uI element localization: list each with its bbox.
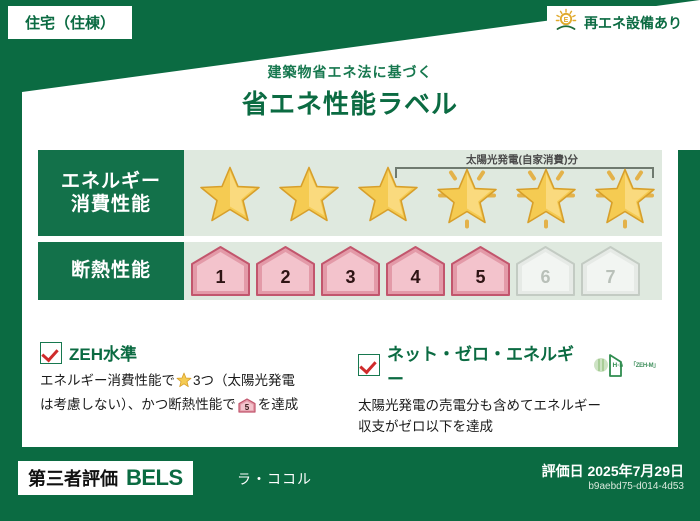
star-icon — [587, 160, 663, 235]
insulation-level-scale: 1 2 — [190, 245, 641, 297]
zeh-m-logo-caption: 「ZEH-M」 — [630, 360, 658, 371]
insulation-level-number: 5 — [450, 267, 511, 288]
third-party-label: 第三者評価 — [28, 465, 118, 491]
insulation-level-item: 7 — [580, 245, 641, 297]
star-icon — [278, 165, 340, 230]
insulation-level-number: 6 — [515, 267, 576, 288]
certificate-id: b9aebd75-d014-4d53 — [588, 481, 684, 492]
zeh-check-title: ZEH水準 — [69, 340, 137, 365]
insulation-level-item: 3 — [320, 245, 381, 297]
insulation-level-number: 4 — [385, 267, 446, 288]
insulation-level-item: 2 — [255, 245, 316, 297]
star-icon — [357, 165, 419, 230]
zeh-desc-part3: を達成 — [258, 397, 299, 412]
criteria-checks: ZEH水準 エネルギー消費性能で3つ（太陽光発電 は考慮しない）、かつ断熱性能で… — [40, 340, 660, 438]
insulation-scale-area: 1 2 — [184, 242, 662, 300]
evaluation-date: 評価日 2025年7月29日 — [542, 461, 684, 481]
svg-text:5: 5 — [245, 403, 250, 412]
star-item-solar — [585, 161, 664, 233]
star-item-solar — [506, 161, 585, 233]
insulation-level-item: 1 — [190, 245, 251, 297]
star-icon — [508, 160, 584, 235]
zeh-desc-part1: エネルギー消費性能で — [40, 373, 175, 388]
nze-check-description: 太陽光発電の売電分も含めてエネルギー 収支がゼロ以下を達成 — [358, 396, 658, 438]
zeh-desc-star-count: 3つ（太陽光発電 — [193, 373, 295, 388]
energy-label-line1: エネルギー — [61, 170, 161, 193]
zeh-check-header: ZEH水準 — [40, 340, 340, 365]
star-item — [269, 161, 348, 233]
energy-performance-label: エネルギー 消費性能 — [38, 150, 184, 236]
housing-type-tag: 住宅（住棟） — [8, 6, 132, 39]
insulation-level-item: 4 — [385, 245, 446, 297]
label-title-block: 建築物省エネ法に基づく 省エネ性能ラベル — [22, 62, 678, 121]
star-item — [190, 161, 269, 233]
insulation-level-number: 2 — [255, 267, 316, 288]
zeh-m-logo-icon: H·M — [593, 352, 623, 378]
energy-performance-row: エネルギー 消費性能 太陽光発電(自家消費)分 — [38, 150, 662, 236]
star-item — [348, 161, 427, 233]
checkmark-icon — [40, 342, 62, 364]
zeh-standard-check: ZEH水準 エネルギー消費性能で3つ（太陽光発電 は考慮しない）、かつ断熱性能で… — [40, 340, 340, 438]
checkmark-icon — [358, 354, 380, 376]
insulation-level-item: 5 — [450, 245, 511, 297]
page-title: 省エネ性能ラベル — [22, 84, 678, 121]
star-icon — [199, 165, 261, 230]
house-icon-inline: 5 — [238, 398, 256, 420]
nze-check-title: ネット・ゼロ・エネルギー — [387, 340, 584, 390]
nze-desc-line1: 太陽光発電の売電分も含めてエネルギー — [358, 398, 601, 413]
star-rating — [184, 160, 662, 234]
energy-label-root: 住宅（住棟） E 再エネ設備あり 建築物省エネ法に — [0, 0, 700, 521]
renewable-equipment-badge: E 再エネ設備あり — [547, 6, 692, 39]
nze-desc-line2: 収支がゼロ以下を達成 — [358, 419, 493, 434]
zeh-check-description: エネルギー消費性能で3つ（太陽光発電 は考慮しない）、かつ断熱性能で5を達成 — [40, 371, 340, 420]
star-icon — [429, 160, 505, 235]
bels-certification-box: 第三者評価 BELS — [18, 461, 193, 495]
insulation-level-number: 3 — [320, 267, 381, 288]
insulation-level-item: 6 — [515, 245, 576, 297]
performance-rows: エネルギー 消費性能 太陽光発電(自家消費)分 — [38, 150, 662, 306]
company-name: ラ・ココル — [237, 469, 312, 489]
nze-check-header: ネット・ゼロ・エネルギー H·M 「ZEH-M」 — [358, 340, 658, 390]
sun-energy-icon: E — [553, 8, 579, 37]
star-item-solar — [427, 161, 506, 233]
footer-bar: 第三者評価 BELS ラ・ココル 評価日 2025年7月29日 b9aebd75… — [0, 447, 700, 521]
net-zero-energy-check: ネット・ゼロ・エネルギー H·M 「ZEH-M」 太陽光発電の売電分も含めてエネ — [358, 340, 658, 438]
insulation-performance-row: 断熱性能 1 — [38, 242, 662, 300]
bels-logo-text: BELS — [126, 465, 183, 491]
insulation-level-number: 7 — [580, 267, 641, 288]
zeh-desc-part2: は考慮しない）、かつ断熱性能で — [40, 397, 236, 412]
svg-text:H·M: H·M — [613, 362, 624, 369]
title-subtitle: 建築物省エネ法に基づく — [22, 62, 678, 82]
insulation-level-number: 1 — [190, 267, 251, 288]
main-panel: 建築物省エネ法に基づく 省エネ性能ラベル エネルギー 消費性能 太陽光発電(自家… — [22, 92, 678, 447]
insulation-performance-label: 断熱性能 — [38, 242, 184, 300]
renewable-badge-label: 再エネ設備あり — [584, 13, 682, 33]
svg-text:E: E — [564, 17, 569, 24]
star-icon-inline — [176, 372, 192, 395]
energy-label-line2: 消費性能 — [71, 193, 151, 216]
energy-rating-area: 太陽光発電(自家消費)分 — [184, 150, 662, 236]
